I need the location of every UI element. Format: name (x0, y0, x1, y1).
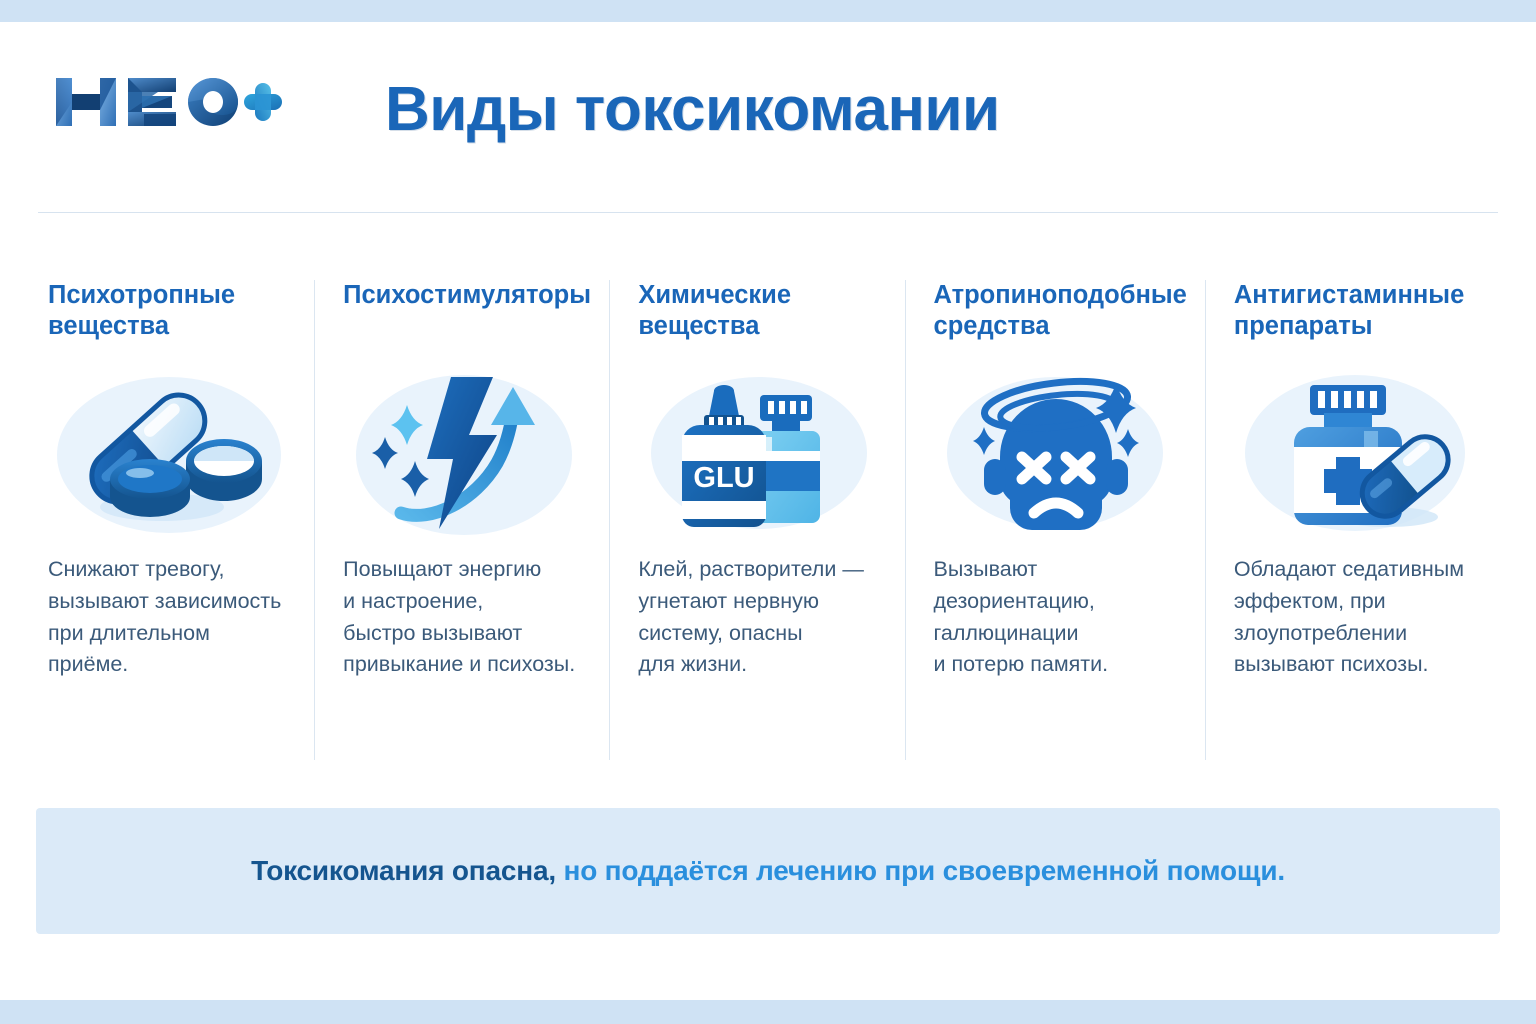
category-column-antihistamine: Антигистаминные препараты (1205, 280, 1500, 760)
dizzy-head-x-eyes-icon (934, 360, 1187, 548)
footer-message: Токсикомания опасна, но поддаётся лечени… (251, 855, 1285, 887)
category-columns: Психотропные вещества (36, 280, 1500, 760)
footer-banner: Токсикомания опасна, но поддаётся лечени… (36, 808, 1500, 934)
column-title: Химические вещества (638, 280, 886, 346)
column-title: Антигистаминные препараты (1234, 280, 1482, 346)
category-column-atropine: Атропиноподобные средства (905, 280, 1205, 760)
page-title: Виды токсикомании (385, 74, 1000, 145)
neo-plus-logo (48, 70, 284, 134)
column-title: Атропиноподобные средства (934, 280, 1187, 346)
column-text: Клей, растворители — угнетают нервную си… (638, 554, 886, 681)
glue-label: GLU (694, 462, 755, 494)
column-title: Психостимуляторы (343, 280, 591, 346)
footer-message-strong: Токсикомания опасна, (251, 855, 556, 886)
glue-solvent-bottles-icon: GLU (638, 360, 886, 548)
column-text: Снижают тревогу, вызывают зависимость пр… (48, 554, 296, 681)
poster-root: Виды токсикомании Психотропные вещества (0, 0, 1536, 1024)
header: Виды токсикомании (0, 22, 1536, 188)
column-text: Обладают седативным эффектом, при злоупо… (1234, 554, 1482, 681)
column-title: Психотропные вещества (48, 280, 296, 346)
category-column-stimulants: Психостимуляторы (314, 280, 609, 760)
footer-message-light: но поддаётся лечению при своевременной п… (556, 855, 1285, 886)
header-divider (38, 212, 1498, 213)
pills-capsule-tablets-icon (48, 360, 296, 548)
poster-card: Виды токсикомании Психотропные вещества (0, 22, 1536, 1000)
column-text: Повыщают энергию и настроение, быстро вы… (343, 554, 591, 681)
column-text: Вызывают дезориентацию, галлюцинации и п… (934, 554, 1187, 681)
category-column-psychotropic: Психотропные вещества (36, 280, 314, 760)
lightning-bolt-arrow-sparkles-icon (343, 360, 591, 548)
medicine-bottle-capsule-icon (1234, 360, 1482, 548)
category-column-chemicals: Химические вещества (609, 280, 904, 760)
